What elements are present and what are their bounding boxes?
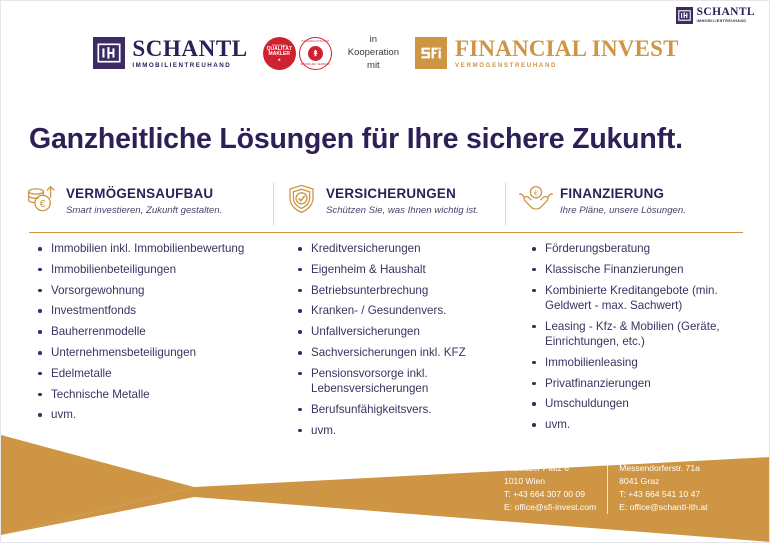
- list-item: Sachversicherungen inkl. KFZ: [297, 345, 495, 360]
- list-item: Betriebsunterbrechung: [297, 283, 495, 298]
- list: Förderungsberatung Klassische Finanzieru…: [531, 241, 737, 432]
- page-title: Ganzheitliche Lösungen für Ihre sichere …: [29, 123, 683, 156]
- ith-monogram-icon: [93, 37, 125, 69]
- list-item: Unfallversicherungen: [297, 324, 495, 339]
- ith-wordmark: SCHANTL IMMOBILIENTREUHAND: [132, 37, 247, 69]
- category-subtitle: Schützen Sie, was Ihnen wichtig ist.: [326, 205, 479, 216]
- list-item: Vorsorgewohnung: [37, 283, 263, 298]
- category-subtitle: Ihre Pläne, unsere Lösungen.: [560, 205, 686, 216]
- category-header-vermoegensaufbau: € VERMÖGENSAUFBAU Smart investieren, Zuk…: [25, 183, 273, 216]
- list-item: Kombinierte Kreditangebote (min. Geldwer…: [531, 283, 737, 314]
- list-item: Förderungsberatung: [531, 241, 737, 256]
- office-street: Passauer Platz 6: [504, 462, 596, 475]
- service-list-finanzierung: Förderungsberatung Klassische Finanzieru…: [505, 241, 747, 443]
- qualitaet-makler-seal-icon: Preisträger QUALITÄT MAKLER ★: [263, 37, 296, 70]
- list-item: Technische Metalle: [37, 387, 263, 402]
- list-item: Unternehmensbeteiligungen: [37, 345, 263, 360]
- list-item: Edelmetalle: [37, 366, 263, 381]
- corner-logo: SCHANTL IMMOBILIENTREUHAND: [676, 7, 755, 24]
- corner-logo-subtitle: IMMOBILIENTREUHAND: [697, 20, 755, 24]
- cooperation-label: in Kooperation mit: [348, 34, 399, 72]
- seal-ring-top-text: ÖSTERREICHISCHER: [300, 40, 331, 43]
- gold-divider-rule: [29, 232, 743, 233]
- ith-name: SCHANTL: [132, 37, 247, 60]
- office-graz-block: Office Graz: Messendorferstr. 71a 8041 G…: [607, 449, 707, 514]
- category-title: VERMÖGENSAUFBAU: [66, 186, 213, 201]
- office-name: Office Graz:: [619, 449, 707, 462]
- footer-contact-info: Office Wien: Passauer Platz 6 1010 Wien …: [504, 449, 708, 514]
- list-item: Immobilien inkl. Immobilienbewertung: [37, 241, 263, 256]
- category-headers: € VERMÖGENSAUFBAU Smart investieren, Zuk…: [25, 183, 747, 216]
- list-item: Immobilienbeteiligungen: [37, 262, 263, 277]
- ith-subtitle: IMMOBILIENTREUHAND: [132, 63, 247, 69]
- hands-holding-coin-icon: €: [519, 183, 553, 215]
- list: Immobilien inkl. Immobilienbewertung Imm…: [37, 241, 263, 423]
- office-email[interactable]: E: office@schantl-ith.at: [619, 501, 707, 514]
- category-header-finanzierung: € FINANZIERUNG Ihre Pläne, unsere Lösung…: [505, 183, 747, 216]
- office-city: 1010 Wien: [504, 475, 596, 488]
- sfi-subtitle: VERMÖGENSTREUHAND: [455, 63, 679, 69]
- office-street: Messendorferstr. 71a: [619, 462, 707, 475]
- service-list-versicherungen: Kreditversicherungen Eigenheim & Haushal…: [273, 241, 505, 443]
- category-title: FINANZIERUNG: [560, 186, 664, 201]
- ith-monogram-icon: [676, 7, 693, 24]
- list-item: Berufsunfähigkeitsvers.: [297, 402, 495, 417]
- list-item: Kranken- / Gesundenvers.: [297, 303, 495, 318]
- cooperation-line2: Kooperation: [348, 47, 399, 60]
- coins-euro-growth-icon: €: [25, 183, 59, 215]
- seal-ring-bottom-text: IMMOBILIEN VERBAND: [300, 63, 331, 66]
- list-item: Privatfinanzierungen: [531, 376, 737, 391]
- office-wien-block: Office Wien: Passauer Platz 6 1010 Wien …: [504, 449, 607, 514]
- quality-seals: Preisträger QUALITÄT MAKLER ★ ÖSTERREICH…: [263, 37, 332, 70]
- svg-text:€: €: [40, 198, 46, 210]
- office-phone[interactable]: T: +43 664 541 10 47: [619, 488, 707, 501]
- seal-line4: ★: [277, 58, 281, 62]
- service-lists: Immobilien inkl. Immobilienbewertung Imm…: [25, 241, 747, 443]
- list-item: Investmentfonds: [37, 303, 263, 318]
- list: Kreditversicherungen Eigenheim & Haushal…: [297, 241, 495, 438]
- partner-logo-row: SCHANTL IMMOBILIENTREUHAND Preisträger Q…: [1, 34, 770, 72]
- sfi-wordmark: FINANCIAL INVEST VERMÖGENSTREUHAND: [455, 37, 679, 69]
- sfi-monogram-icon: [415, 37, 447, 69]
- list-item: Eigenheim & Haushalt: [297, 262, 495, 277]
- office-email[interactable]: E: office@sfi-invest.com: [504, 501, 596, 514]
- list-item: Immobilienleasing: [531, 355, 737, 370]
- cooperation-line3: mit: [348, 60, 399, 73]
- office-city: 8041 Graz: [619, 475, 707, 488]
- ith-logo: SCHANTL IMMOBILIENTREUHAND: [93, 37, 247, 69]
- list-item: Pensionsvorsorge inkl. Lebensversicherun…: [297, 366, 495, 397]
- list-item: Bauherrenmodelle: [37, 324, 263, 339]
- eagle-emblem-icon: [308, 46, 323, 61]
- immobilien-verband-seal-icon: ÖSTERREICHISCHER IMMOBILIEN VERBAND: [299, 37, 332, 70]
- office-phone[interactable]: T: +43 664 307 00 09: [504, 488, 596, 501]
- svg-text:€: €: [534, 190, 538, 197]
- category-title: VERSICHERUNGEN: [326, 186, 456, 201]
- shield-check-icon: [285, 183, 319, 215]
- category-header-versicherungen: VERSICHERUNGEN Schützen Sie, was Ihnen w…: [273, 183, 505, 216]
- corner-logo-wordmark: SCHANTL IMMOBILIENTREUHAND: [697, 7, 755, 23]
- list-item: Leasing - Kfz- & Mobilien (Geräte, Einri…: [531, 319, 737, 350]
- sfi-name: FINANCIAL INVEST: [455, 37, 679, 60]
- office-name: Office Wien:: [504, 449, 596, 462]
- list-item: Klassische Finanzierungen: [531, 262, 737, 277]
- sfi-logo: FINANCIAL INVEST VERMÖGENSTREUHAND: [415, 37, 679, 69]
- list-item: Umschuldungen: [531, 396, 737, 411]
- cooperation-line1: in: [348, 34, 399, 47]
- category-subtitle: Smart investieren, Zukunft gestalten.: [66, 205, 222, 216]
- poster-page: SCHANTL IMMOBILIENTREUHAND SCHANTL IMMOB…: [0, 0, 770, 543]
- service-list-vermoegensaufbau: Immobilien inkl. Immobilienbewertung Imm…: [25, 241, 273, 443]
- list-item: Kreditversicherungen: [297, 241, 495, 256]
- corner-logo-name: SCHANTL: [697, 7, 755, 19]
